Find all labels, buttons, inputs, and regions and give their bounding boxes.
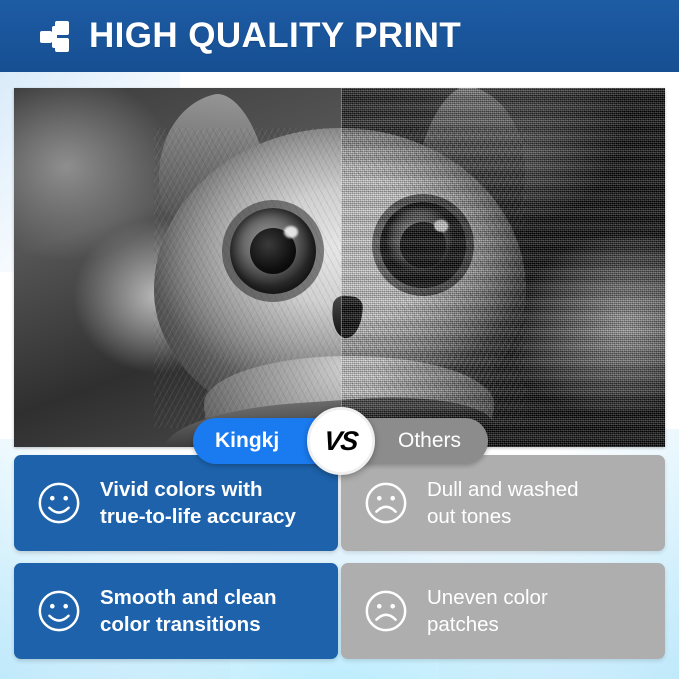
feature-card-line1: Vivid colors with: [100, 476, 296, 503]
header-content: HIGH QUALITY PRINT: [40, 16, 461, 56]
smiley-face-icon: [36, 480, 82, 526]
page-title: HIGH QUALITY PRINT: [89, 16, 461, 56]
feature-card-line2: out tones: [427, 503, 579, 530]
feature-card-line2: patches: [427, 611, 548, 638]
photo-half-bad: [341, 88, 665, 447]
comparison-photo: [14, 88, 665, 447]
feature-card-text: Dull and washed out tones: [427, 476, 579, 530]
feature-card-text: Vivid colors with true-to-life accuracy: [100, 476, 296, 530]
feature-card-smooth-transitions[interactable]: Smooth and clean color transitions: [14, 563, 338, 659]
brand-pill-label: Kingkj: [215, 429, 279, 453]
sad-face-icon: [363, 588, 409, 634]
smiley-face-icon: [36, 588, 82, 634]
owl-illustration-good: [14, 88, 341, 447]
feature-card-line1: Smooth and clean: [100, 584, 277, 611]
four-squares-logo-icon: [40, 20, 74, 54]
feature-card-line2: true-to-life accuracy: [100, 503, 296, 530]
feature-card-vivid-colors[interactable]: Vivid colors with true-to-life accuracy: [14, 455, 338, 551]
photo-half-good: [14, 88, 341, 447]
versus-badge: VS: [307, 407, 375, 475]
feature-card-uneven-patches[interactable]: Uneven color patches: [341, 563, 665, 659]
versus-badge-label: VS: [323, 426, 359, 457]
feature-card-text: Uneven color patches: [427, 584, 548, 638]
feature-card-dull-tones[interactable]: Dull and washed out tones: [341, 455, 665, 551]
sad-face-icon: [363, 480, 409, 526]
owl-illustration-bad: [341, 88, 665, 447]
feature-card-grid: Vivid colors with true-to-life accuracy …: [14, 455, 665, 659]
feature-card-text: Smooth and clean color transitions: [100, 584, 277, 638]
competitor-pill-label: Others: [398, 429, 461, 453]
comparison-split-line: [341, 88, 342, 447]
feature-card-line2: color transitions: [100, 611, 277, 638]
feature-card-line1: Uneven color: [427, 584, 548, 611]
feature-card-line1: Dull and washed: [427, 476, 579, 503]
product-feature-graphic: HIGH QUALITY PRINT: [0, 0, 679, 679]
header-banner: HIGH QUALITY PRINT: [0, 0, 679, 72]
